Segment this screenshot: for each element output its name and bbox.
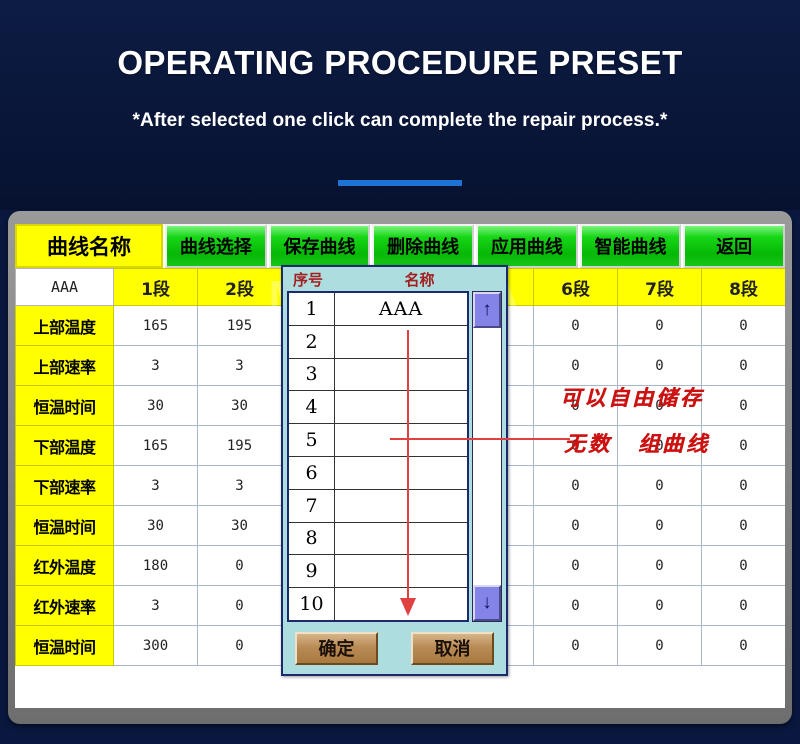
dialog-body: 1AAA2345678910 ↑ ↓	[283, 291, 506, 622]
list-item-name	[335, 490, 467, 522]
current-curve-name[interactable]: AAA	[16, 269, 114, 306]
cell-value[interactable]: 0	[618, 306, 702, 346]
row-label: 恒温时间	[16, 386, 114, 426]
list-item-name	[335, 391, 467, 423]
cell-value[interactable]: 0	[618, 626, 702, 666]
row-label: 红外速率	[16, 586, 114, 626]
curve-save-button[interactable]: 保存曲线	[269, 224, 371, 268]
curve-select-button[interactable]: 曲线选择	[165, 224, 267, 268]
cell-value[interactable]: 0	[534, 586, 618, 626]
cell-value[interactable]: 0	[702, 586, 786, 626]
cell-value[interactable]: 0	[702, 306, 786, 346]
cell-value[interactable]: 3	[114, 346, 198, 386]
page-subtitle: *After selected one click can complete t…	[0, 81, 800, 132]
cell-value[interactable]: 3	[114, 586, 198, 626]
cell-value[interactable]: 0	[534, 346, 618, 386]
list-item-index: 5	[289, 424, 335, 456]
cell-value[interactable]: 0	[702, 626, 786, 666]
list-item[interactable]: 1AAA	[289, 293, 467, 326]
list-item-index: 2	[289, 326, 335, 358]
annotation-arrow-icon	[400, 598, 416, 616]
cell-value[interactable]: 0	[534, 466, 618, 506]
cell-value[interactable]: 0	[198, 626, 282, 666]
page-header: OPERATING PROCEDURE PRESET *After select…	[0, 0, 800, 210]
list-item[interactable]: 10	[289, 588, 467, 620]
list-item-name	[335, 359, 467, 391]
cell-value[interactable]: 0	[534, 506, 618, 546]
scroll-down-icon[interactable]: ↓	[473, 585, 501, 621]
curve-smart-button[interactable]: 智能曲线	[580, 224, 682, 268]
annotation-vertical-line	[407, 330, 409, 602]
toolbar: 曲线名称 曲线选择 保存曲线 删除曲线 应用曲线 智能曲线 返回	[15, 224, 785, 268]
cell-value[interactable]: 165	[114, 426, 198, 466]
cell-value[interactable]: 0	[702, 386, 786, 426]
cell-value[interactable]: 3	[114, 466, 198, 506]
list-item-name	[335, 457, 467, 489]
page-title: OPERATING PROCEDURE PRESET	[0, 0, 800, 81]
list-item-index: 1	[289, 293, 335, 325]
curve-list[interactable]: 1AAA2345678910	[287, 291, 469, 622]
list-item[interactable]: 8	[289, 523, 467, 556]
list-item-index: 8	[289, 523, 335, 555]
list-item-index: 7	[289, 490, 335, 522]
list-item[interactable]: 4	[289, 391, 467, 424]
curve-apply-button[interactable]: 应用曲线	[476, 224, 578, 268]
row-label: 恒温时间	[16, 626, 114, 666]
cell-value[interactable]: 0	[618, 506, 702, 546]
row-label: 上部速率	[16, 346, 114, 386]
list-item-name: AAA	[335, 293, 467, 325]
cell-value[interactable]: 0	[198, 586, 282, 626]
cell-value[interactable]: 0	[702, 506, 786, 546]
cell-value[interactable]: 30	[114, 506, 198, 546]
list-item[interactable]: 2	[289, 326, 467, 359]
cell-value[interactable]: 0	[702, 466, 786, 506]
accent-divider	[338, 180, 462, 186]
column-header-segment-8: 8段	[702, 269, 786, 306]
cell-value[interactable]: 0	[618, 386, 702, 426]
list-item[interactable]: 5	[289, 424, 467, 457]
cell-value[interactable]: 0	[618, 546, 702, 586]
cell-value[interactable]: 3	[198, 466, 282, 506]
cell-value[interactable]: 0	[618, 426, 702, 466]
list-item-name	[335, 523, 467, 555]
back-button[interactable]: 返回	[683, 224, 785, 268]
list-item[interactable]: 3	[289, 359, 467, 392]
list-item-index: 10	[289, 588, 335, 620]
cell-value[interactable]: 30	[114, 386, 198, 426]
row-label: 红外温度	[16, 546, 114, 586]
cell-value[interactable]: 0	[702, 426, 786, 466]
column-header-segment-7: 7段	[618, 269, 702, 306]
cell-value[interactable]: 0	[534, 306, 618, 346]
curve-delete-button[interactable]: 删除曲线	[372, 224, 474, 268]
cell-value[interactable]: 195	[198, 306, 282, 346]
cell-value[interactable]: 0	[618, 466, 702, 506]
dialog-column-header-name: 名称	[333, 267, 506, 291]
curve-name-label: 曲线名称	[15, 224, 163, 268]
cell-value[interactable]: 0	[534, 626, 618, 666]
list-item-index: 4	[289, 391, 335, 423]
scroll-up-icon[interactable]: ↑	[473, 292, 501, 328]
cancel-button[interactable]: 取消	[411, 632, 494, 665]
column-header-segment-2: 2段	[198, 269, 282, 306]
dialog-header: 序号 名称	[283, 267, 506, 291]
scroll-track[interactable]	[473, 328, 501, 585]
list-item[interactable]: 9	[289, 555, 467, 588]
cell-value[interactable]: 0	[702, 546, 786, 586]
row-label: 恒温时间	[16, 506, 114, 546]
cell-value[interactable]: 0	[618, 586, 702, 626]
cell-value[interactable]: 3	[198, 346, 282, 386]
row-label: 下部温度	[16, 426, 114, 466]
cell-value[interactable]: 165	[114, 306, 198, 346]
list-item[interactable]: 6	[289, 457, 467, 490]
list-item-name	[335, 555, 467, 587]
dialog-scrollbar[interactable]: ↑ ↓	[472, 291, 502, 622]
list-item-index: 3	[289, 359, 335, 391]
list-item-name	[335, 424, 467, 456]
cell-value[interactable]: 30	[198, 506, 282, 546]
annotation-horizontal-line	[390, 438, 570, 440]
curve-select-dialog: 序号 名称 1AAA2345678910 ↑ ↓ 确定 取消	[281, 265, 508, 676]
cell-value[interactable]: 0	[534, 546, 618, 586]
cell-value[interactable]: 180	[114, 546, 198, 586]
confirm-button[interactable]: 确定	[295, 632, 378, 665]
row-label: 下部速率	[16, 466, 114, 506]
cell-value[interactable]: 0	[618, 346, 702, 386]
list-item-index: 6	[289, 457, 335, 489]
cell-value[interactable]: 0	[198, 546, 282, 586]
cell-value[interactable]: 0	[534, 386, 618, 426]
column-header-segment-1: 1段	[114, 269, 198, 306]
cell-value[interactable]: 30	[198, 386, 282, 426]
list-item-index: 9	[289, 555, 335, 587]
list-item[interactable]: 7	[289, 490, 467, 523]
list-item-name	[335, 326, 467, 358]
dialog-footer: 确定 取消	[283, 622, 506, 674]
cell-value[interactable]: 300	[114, 626, 198, 666]
dialog-column-header-seq: 序号	[283, 267, 333, 291]
row-label: 上部温度	[16, 306, 114, 346]
cell-value[interactable]: 195	[198, 426, 282, 466]
column-header-segment-6: 6段	[534, 269, 618, 306]
cell-value[interactable]: 0	[702, 346, 786, 386]
cell-value[interactable]: 0	[534, 426, 618, 466]
